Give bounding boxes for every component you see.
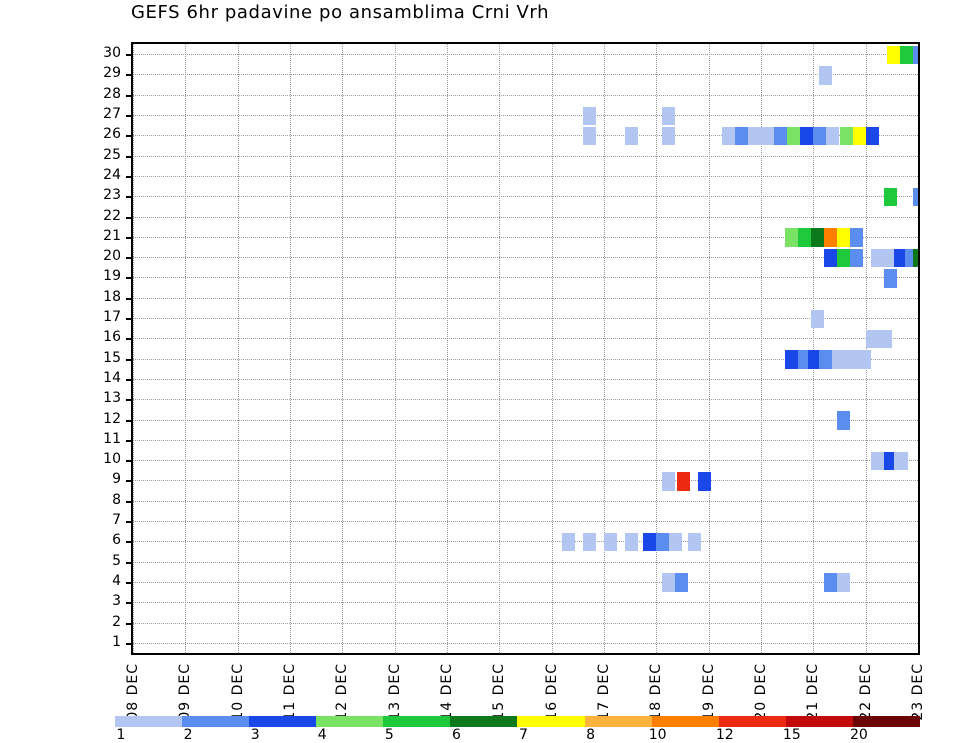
x-axis-tick-label: 09 DEC xyxy=(177,663,193,721)
y-axis-tick-label: 16 xyxy=(103,329,121,345)
x-axis-tick-label: 13 DEC xyxy=(387,663,403,721)
heatmap-cell xyxy=(583,107,596,126)
heatmap-cell xyxy=(819,66,832,85)
heatmap-cell xyxy=(722,127,735,146)
y-axis-tick-label: 19 xyxy=(103,268,121,284)
colorbar-band xyxy=(115,716,182,727)
heatmap-cell xyxy=(787,127,800,146)
colorbar-band xyxy=(182,716,249,727)
heatmap-cell xyxy=(837,573,850,592)
colorbar-band xyxy=(249,716,316,727)
heatmap-cell xyxy=(662,472,675,491)
heatmap-cell xyxy=(837,249,850,268)
x-axis-tick-label: 16 DEC xyxy=(544,663,560,721)
heatmap-cell xyxy=(669,533,682,552)
heatmap-cell xyxy=(832,350,845,369)
y-axis-tick-label: 13 xyxy=(103,390,121,406)
heatmap-cell xyxy=(583,533,596,552)
y-axis-tick-label: 3 xyxy=(112,593,121,609)
heatmap-cell xyxy=(850,249,863,268)
y-axis-tick-label: 21 xyxy=(103,228,121,244)
colorbar-band xyxy=(316,716,383,727)
colorbar-band xyxy=(585,716,652,727)
heatmap-cell xyxy=(887,46,900,65)
heatmap-cell xyxy=(785,228,798,247)
page-title: GEFS 6hr padavine po ansamblima Crni Vrh xyxy=(131,2,549,23)
heatmap-cell xyxy=(879,330,892,349)
y-axis-tick-label: 10 xyxy=(103,451,121,467)
heatmap-cell xyxy=(824,228,837,247)
heatmap-cell xyxy=(845,350,858,369)
colorbar-band xyxy=(853,716,920,727)
y-axis-tick-label: 1 xyxy=(112,634,121,650)
heatmap-cell xyxy=(837,228,850,247)
heatmap-cells xyxy=(133,44,918,653)
y-axis-tick-label: 17 xyxy=(103,309,121,325)
heatmap-cell xyxy=(871,249,884,268)
plot-area xyxy=(131,42,920,655)
heatmap-cell xyxy=(853,127,866,146)
y-axis-tick-label: 20 xyxy=(103,248,121,264)
heatmap-cell xyxy=(894,452,907,471)
heatmap-cell xyxy=(662,107,675,126)
colorbar-band xyxy=(786,716,853,727)
heatmap-cell xyxy=(761,127,774,146)
y-axis-tick-label: 14 xyxy=(103,370,121,386)
heatmap-cell xyxy=(562,533,575,552)
colorbar-band xyxy=(652,716,719,727)
x-axis-tick-label: 21 DEC xyxy=(805,663,821,721)
heatmap-cell xyxy=(735,127,748,146)
colorbar-band xyxy=(450,716,517,727)
x-axis-tick-label: 22 DEC xyxy=(858,663,874,721)
x-axis-tick-label: 11 DEC xyxy=(282,663,298,721)
heatmap-cell xyxy=(900,46,913,65)
heatmap-cell xyxy=(677,472,690,491)
x-axis-tick-label: 23 DEC xyxy=(910,663,926,721)
colorbar-band xyxy=(719,716,786,727)
heatmap-cell xyxy=(604,533,617,552)
heatmap-cell xyxy=(811,228,824,247)
x-axis-tick-label: 14 DEC xyxy=(439,663,455,721)
x-axis-tick-label: 18 DEC xyxy=(648,663,664,721)
colorbar-tick-label: 2 xyxy=(184,727,193,743)
heatmap-cell xyxy=(858,350,871,369)
x-axis-tick-label: 19 DEC xyxy=(701,663,717,721)
heatmap-cell xyxy=(824,573,837,592)
colorbar-tick-label: 7 xyxy=(519,727,528,743)
y-axis-tick-label: 28 xyxy=(103,86,121,102)
heatmap-cell xyxy=(800,127,813,146)
heatmap-cell xyxy=(583,127,596,146)
colorbar-band xyxy=(383,716,450,727)
y-axis-tick-label: 15 xyxy=(103,350,121,366)
heatmap-cell xyxy=(913,249,920,268)
x-axis-tick-label: 10 DEC xyxy=(230,663,246,721)
heatmap-cell xyxy=(662,573,675,592)
heatmap-cell xyxy=(850,228,863,247)
x-axis-tick-label: 17 DEC xyxy=(596,663,612,721)
heatmap-cell xyxy=(748,127,761,146)
heatmap-cell xyxy=(774,127,787,146)
y-axis-tick-label: 25 xyxy=(103,147,121,163)
colorbar-tick-label: 5 xyxy=(385,727,394,743)
colorbar-tick-labels: 1234567810121520 xyxy=(115,727,920,742)
y-axis-tick-label: 8 xyxy=(112,492,121,508)
heatmap-cell xyxy=(884,269,897,288)
y-axis-tick-label: 22 xyxy=(103,208,121,224)
heatmap-cell xyxy=(837,411,850,430)
y-axis-tick-label: 27 xyxy=(103,106,121,122)
y-axis-tick-label: 9 xyxy=(112,471,121,487)
y-axis-tick-label: 26 xyxy=(103,126,121,142)
heatmap-cell xyxy=(688,533,701,552)
heatmap-cell xyxy=(913,46,920,65)
heatmap-cell xyxy=(675,573,688,592)
heatmap-cell xyxy=(811,310,824,329)
heatmap-cell xyxy=(643,533,656,552)
colorbar-tick-label: 1 xyxy=(117,727,126,743)
colorbar-tick-label: 15 xyxy=(783,727,801,743)
y-axis-tick-label: 4 xyxy=(112,573,121,589)
y-axis-tick-label: 23 xyxy=(103,187,121,203)
heatmap-cell xyxy=(813,127,826,146)
colorbar-legend xyxy=(115,716,920,727)
y-axis-tick-label: 30 xyxy=(103,45,121,61)
heatmap-cell xyxy=(625,127,638,146)
heatmap-cell xyxy=(798,228,811,247)
x-axis-tick-label: 15 DEC xyxy=(491,663,507,721)
x-axis-tick-label: 20 DEC xyxy=(753,663,769,721)
heatmap-cell xyxy=(884,188,897,207)
colorbar-band xyxy=(517,716,584,727)
heatmap-cell xyxy=(785,350,798,369)
colorbar-tick-label: 8 xyxy=(586,727,595,743)
heatmap-cell xyxy=(840,127,853,146)
colorbar-tick-label: 12 xyxy=(716,727,734,743)
heatmap-cell xyxy=(698,472,711,491)
gridline-vertical xyxy=(918,44,920,653)
colorbar-tick-label: 10 xyxy=(649,727,667,743)
heatmap-cell xyxy=(826,127,839,146)
y-axis-tick-label: 11 xyxy=(103,431,121,447)
heatmap-cell xyxy=(866,330,879,349)
heatmap-cell xyxy=(625,533,638,552)
colorbar-tick-label: 6 xyxy=(452,727,461,743)
heatmap-cell xyxy=(819,350,832,369)
heatmap-cell xyxy=(913,188,920,207)
heatmap-cell xyxy=(871,452,884,471)
y-axis-tick-label: 5 xyxy=(112,553,121,569)
x-axis-tick-label: 12 DEC xyxy=(334,663,350,721)
y-axis-tick-label: 7 xyxy=(112,512,121,528)
y-axis-tick-label: 12 xyxy=(103,411,121,427)
heatmap-cell xyxy=(824,249,837,268)
heatmap-cell xyxy=(866,127,879,146)
y-axis-tick-label: 6 xyxy=(112,532,121,548)
precipitation-ensemble-chart: GEFS 6hr padavine po ansamblima Crni Vrh… xyxy=(0,0,960,742)
heatmap-cell xyxy=(656,533,669,552)
colorbar-tick-label: 4 xyxy=(318,727,327,743)
y-axis-tick-label: 18 xyxy=(103,289,121,305)
y-axis-tick-label: 29 xyxy=(103,65,121,81)
x-axis-tick-label: 08 DEC xyxy=(125,663,141,721)
y-axis-tick-label: 24 xyxy=(103,167,121,183)
colorbar-tick-label: 20 xyxy=(850,727,868,743)
colorbar-tick-label: 3 xyxy=(251,727,260,743)
y-axis-tick-label: 2 xyxy=(112,614,121,630)
heatmap-cell xyxy=(662,127,675,146)
